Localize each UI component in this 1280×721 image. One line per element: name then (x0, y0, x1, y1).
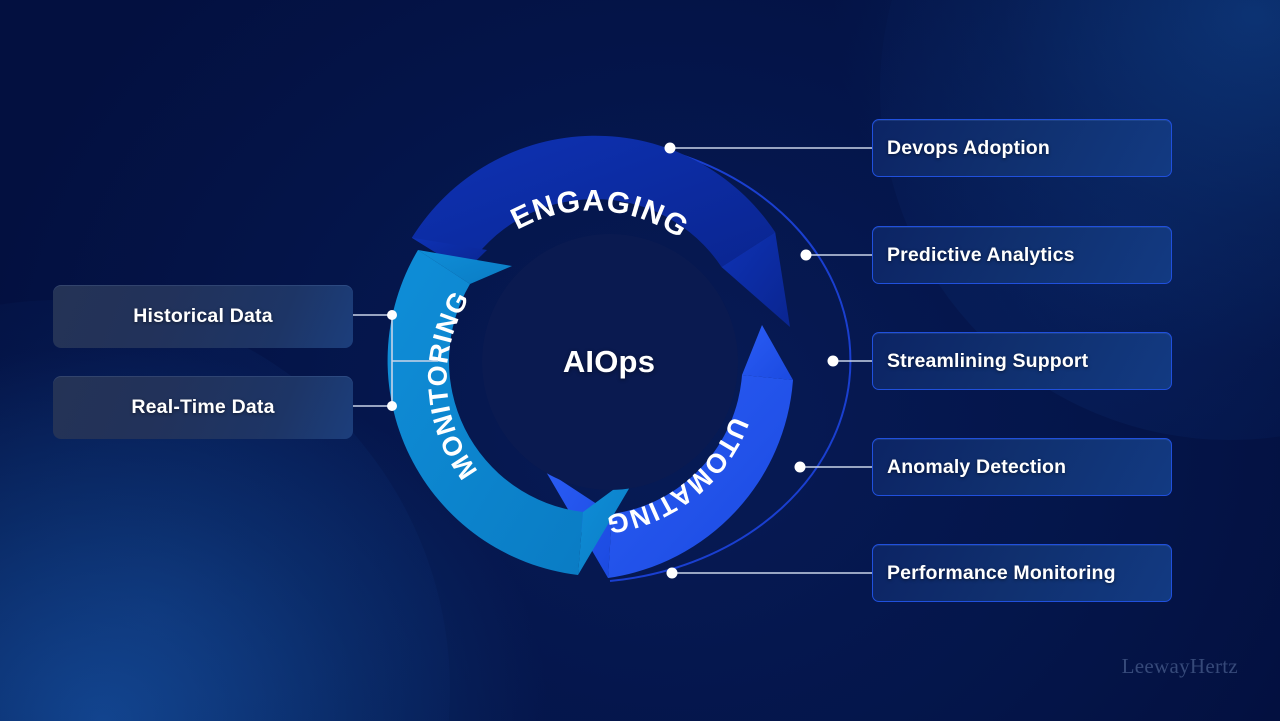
input-card-real-time-data[interactable]: Real-Time Data (53, 376, 353, 439)
brand-watermark: LeewayHertz (1122, 654, 1238, 679)
outcome-card-performance-monitoring[interactable]: Performance Monitoring (872, 544, 1172, 602)
diagram-canvas: ENGAGING AUTOMATING MONITORING (0, 0, 1280, 721)
outcome-card-predictive-analytics[interactable]: Predictive Analytics (872, 226, 1172, 284)
connector-dot-anomaly-detection (795, 462, 806, 473)
connector-dot-devops-adoption (665, 143, 676, 154)
input-card-label: Historical Data (133, 305, 273, 328)
outcome-card-label: Devops Adoption (887, 137, 1050, 160)
connector-dot-realtime (387, 401, 397, 411)
center-label: AIOps (509, 342, 709, 382)
outcome-card-devops-adoption[interactable]: Devops Adoption (872, 119, 1172, 177)
connector-dot-performance-monitoring (667, 568, 678, 579)
connector-dot-predictive-analytics (801, 250, 812, 261)
outcome-card-anomaly-detection[interactable]: Anomaly Detection (872, 438, 1172, 496)
outcome-card-streamlining-support[interactable]: Streamlining Support (872, 332, 1172, 390)
outcome-card-label: Anomaly Detection (887, 456, 1066, 479)
outcome-card-label: Predictive Analytics (887, 244, 1075, 267)
outcome-card-label: Streamlining Support (887, 350, 1088, 373)
input-card-historical-data[interactable]: Historical Data (53, 285, 353, 348)
outcome-card-label: Performance Monitoring (887, 562, 1116, 585)
input-card-label: Real-Time Data (131, 396, 274, 419)
connector-dot-streamlining-support (828, 356, 839, 367)
connector-dot-historical (387, 310, 397, 320)
